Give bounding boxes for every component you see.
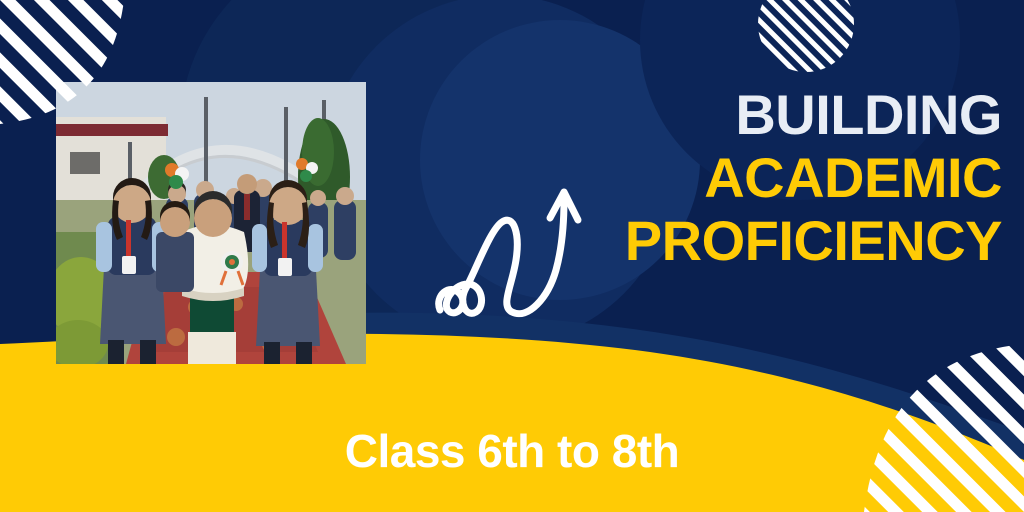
- promotional-banner: BUILDING ACADEMIC PROFICIENCY Class 6th …: [0, 0, 1024, 512]
- curly-upward-arrow-icon: [432, 178, 612, 323]
- diagonal-stripes-icon: [0, 0, 180, 175]
- headline-line-3: PROFICIENCY: [625, 214, 1002, 269]
- headline-line-1: BUILDING: [625, 88, 1002, 143]
- student-midback: [156, 201, 194, 292]
- headline-line-2: ACADEMIC: [625, 151, 1002, 206]
- headline: BUILDING ACADEMIC PROFICIENCY: [625, 88, 1002, 269]
- diagonal-stripes-quarter-circle-icon: [844, 332, 1024, 512]
